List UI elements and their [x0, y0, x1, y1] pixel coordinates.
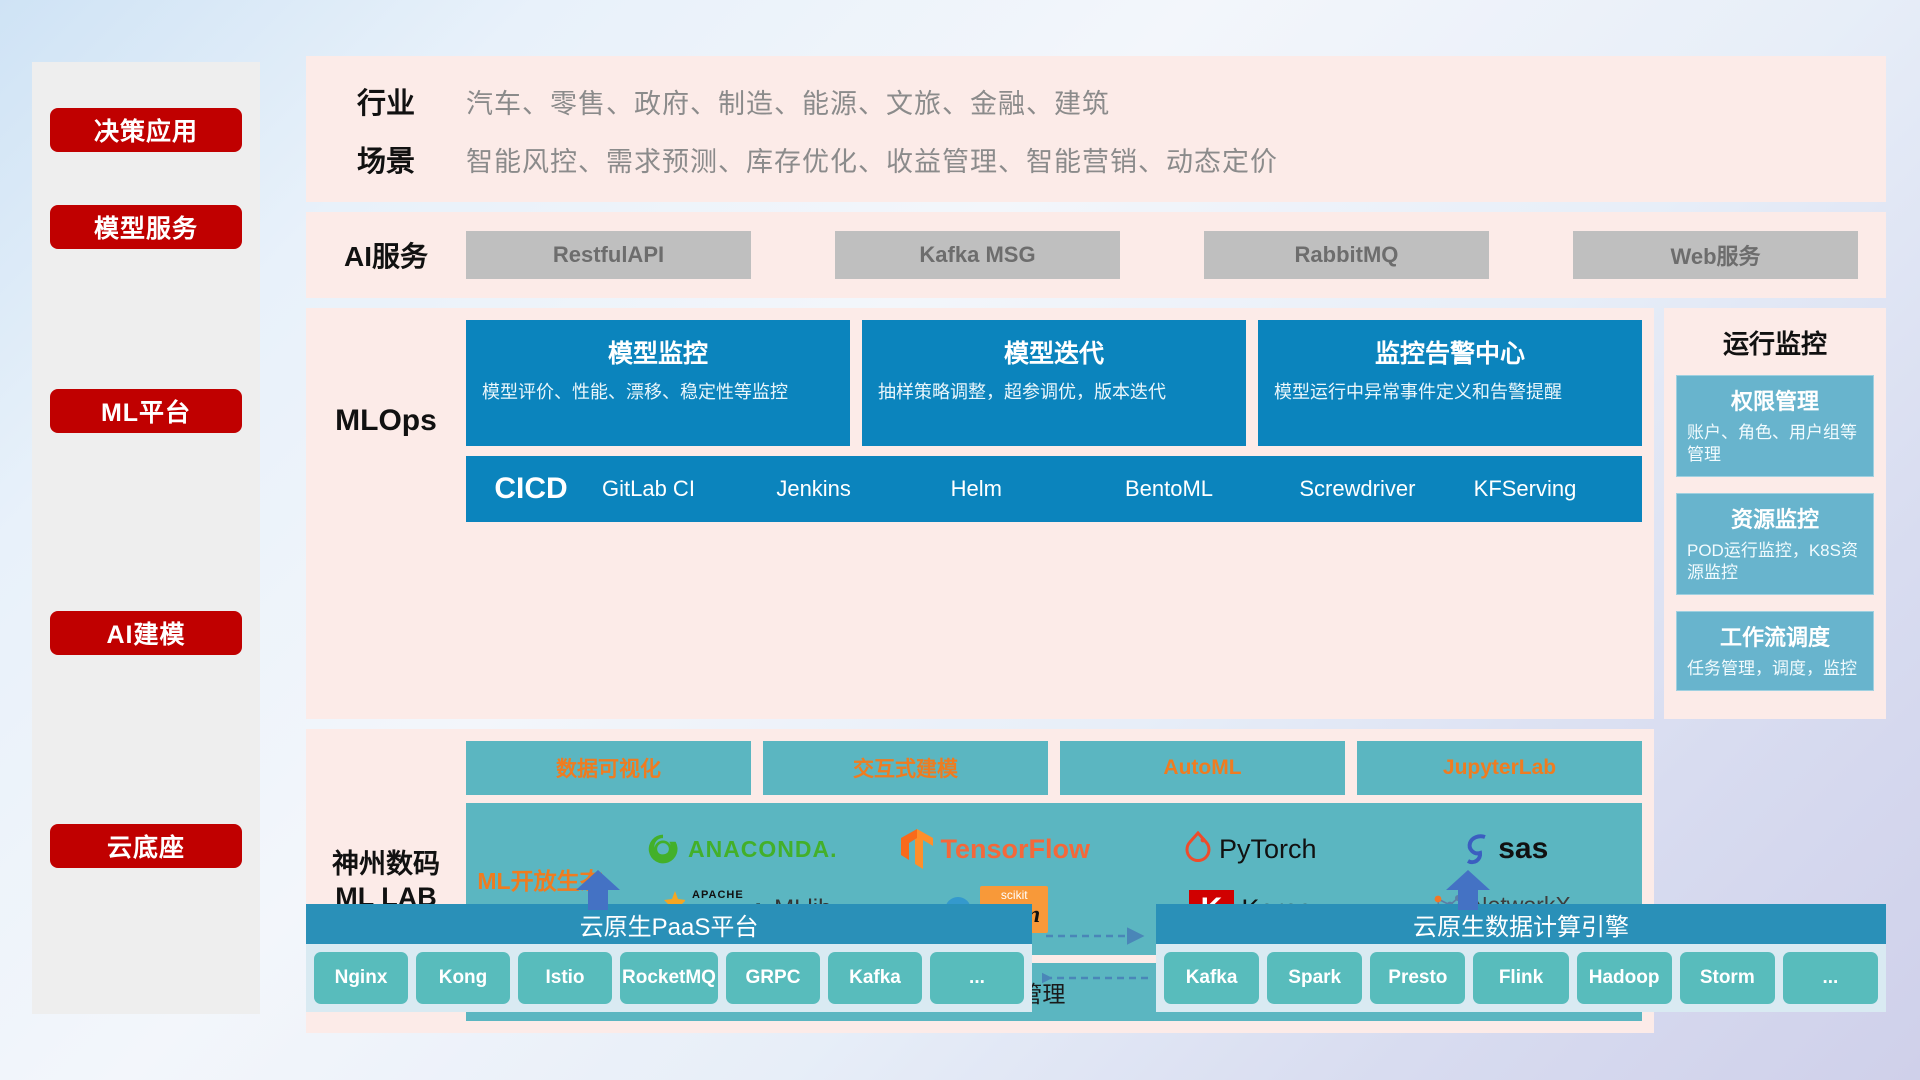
monitor-card-workflow[interactable]: 工作流调度 任务管理，调度，监控: [1676, 611, 1874, 691]
monitor-card-title: 资源监控: [1687, 502, 1863, 534]
ml-lab-tab-list: 数据可视化 交互式建模 AutoML JupyterLab: [466, 741, 1642, 795]
paas-chip-kafka[interactable]: Kafka: [828, 952, 922, 1004]
cicd-item-helm[interactable]: Helm: [945, 477, 1119, 501]
ml-lab-tab-automl[interactable]: AutoML: [1060, 741, 1345, 795]
mlops-card-title: 监控告警中心: [1274, 334, 1626, 370]
ai-service-chip-kafka-msg[interactable]: Kafka MSG: [835, 231, 1120, 279]
cicd-item-list: GitLab CI Jenkins Helm BentoML Screwdriv…: [596, 477, 1642, 501]
paas-chip-row: Nginx Kong Istio RocketMQ GRPC Kafka ...: [306, 944, 1032, 1012]
mlops-card-model-monitoring[interactable]: 模型监控 模型评价、性能、漂移、稳定性等监控: [466, 320, 850, 446]
rail-chip-model-service[interactable]: 模型服务: [50, 205, 242, 249]
monitor-card-permission[interactable]: 权限管理 账户、角色、用户组等管理: [1676, 375, 1874, 477]
mlops-card-desc: 模型评价、性能、漂移、稳定性等监控: [482, 380, 834, 404]
sas-wordmark: sas: [1498, 832, 1548, 866]
paas-group: 云原生PaaS平台 Nginx Kong Istio RocketMQ GRPC…: [306, 904, 1032, 1012]
engine-chip-flink[interactable]: Flink: [1473, 952, 1568, 1004]
monitor-card-desc: 任务管理，调度，监控: [1687, 658, 1863, 680]
paas-chip-more[interactable]: ...: [930, 952, 1024, 1004]
cicd-item-bentoml[interactable]: BentoML: [1119, 477, 1293, 501]
rail-chip-label: AI建模: [106, 615, 185, 651]
rail-chip-label: ML平台: [101, 393, 191, 429]
monitor-card-title: 权限管理: [1687, 384, 1863, 416]
paas-chip-nginx[interactable]: Nginx: [314, 952, 408, 1004]
bidirectional-connector: [1042, 926, 1152, 996]
industry-value: 汽车、零售、政府、制造、能源、文旅、金融、建筑: [466, 82, 1110, 121]
runtime-monitor-panel: 运行监控 权限管理 账户、角色、用户组等管理 资源监控 POD运行监控，K8S资…: [1664, 308, 1886, 719]
data-engine-chip-row: Kafka Spark Presto Flink Hadoop Storm ..…: [1156, 944, 1886, 1012]
pytorch-mark-icon: [1184, 831, 1212, 867]
paas-chip-istio[interactable]: Istio: [518, 952, 612, 1004]
mlops-card-desc: 抽样策略调整，超参调优，版本迭代: [878, 380, 1230, 404]
cicd-item-jenkins[interactable]: Jenkins: [770, 477, 944, 501]
rail-chip-decision-apps[interactable]: 决策应用: [50, 108, 242, 152]
ml-lab-tab-data-visualization[interactable]: 数据可视化: [466, 741, 751, 795]
anaconda-wordmark: ANACONDA.: [688, 836, 838, 863]
data-engine-header: 云原生数据计算引擎: [1156, 904, 1886, 944]
scenario-value: 智能风控、需求预测、库存优化、收益管理、智能营销、动态定价: [466, 140, 1278, 179]
mlops-card-list: 模型监控 模型评价、性能、漂移、稳定性等监控 模型迭代 抽样策略调整，超参调优，…: [466, 320, 1642, 446]
cicd-item-screwdriver[interactable]: Screwdriver: [1293, 477, 1467, 501]
industry-row: 行业 汽车、零售、政府、制造、能源、文旅、金融、建筑: [306, 72, 1886, 130]
engine-chip-storm[interactable]: Storm: [1680, 952, 1775, 1004]
ml-platform-row: MLOps 模型监控 模型评价、性能、漂移、稳定性等监控 模型迭代 抽样策略调整…: [306, 308, 1886, 719]
paas-chip-grpc[interactable]: GRPC: [726, 952, 820, 1004]
pytorch-wordmark: PyTorch: [1219, 834, 1317, 865]
decision-apps-band: 行业 汽车、零售、政府、制造、能源、文旅、金融、建筑 场景 智能风控、需求预测、…: [306, 56, 1886, 202]
monitor-card-title: 工作流调度: [1687, 620, 1863, 652]
tensorflow-mark-icon: [901, 829, 933, 869]
industry-key: 行业: [306, 80, 466, 122]
rail-chip-cloud-base[interactable]: 云底座: [50, 824, 242, 868]
mlops-card-model-iteration[interactable]: 模型迭代 抽样策略调整，超参调优，版本迭代: [862, 320, 1246, 446]
mlops-band: MLOps 模型监控 模型评价、性能、漂移、稳定性等监控 模型迭代 抽样策略调整…: [306, 308, 1654, 719]
ml-lab-tab-jupyterlab[interactable]: JupyterLab: [1357, 741, 1642, 795]
rail-chip-ai-modeling[interactable]: AI建模: [50, 611, 242, 655]
engine-chip-kafka[interactable]: Kafka: [1164, 952, 1259, 1004]
engine-chip-presto[interactable]: Presto: [1370, 952, 1465, 1004]
ai-service-chip-rabbitmq[interactable]: RabbitMQ: [1204, 231, 1489, 279]
anaconda-mark-icon: [645, 831, 681, 867]
cicd-item-kfserving[interactable]: KFServing: [1468, 477, 1642, 501]
data-engine-group: 云原生数据计算引擎 Kafka Spark Presto Flink Hadoo…: [1156, 904, 1886, 1012]
mlops-key: MLOps: [306, 320, 466, 522]
up-arrow-icon: [1446, 870, 1490, 910]
engine-chip-more[interactable]: ...: [1783, 952, 1878, 1004]
layer-rail: 决策应用 模型服务 ML平台 AI建模 云底座: [32, 62, 260, 1014]
cicd-item-gitlab-ci[interactable]: GitLab CI: [596, 477, 770, 501]
paas-chip-kong[interactable]: Kong: [416, 952, 510, 1004]
mlops-card-alert-center[interactable]: 监控告警中心 模型运行中异常事件定义和告警提醒: [1258, 320, 1642, 446]
ml-lab-tab-interactive-modeling[interactable]: 交互式建模: [763, 741, 1048, 795]
mlops-card-title: 模型监控: [482, 334, 834, 370]
rail-chip-label: 决策应用: [94, 112, 198, 148]
cicd-bar: CICD GitLab CI Jenkins Helm BentoML Scre…: [466, 456, 1642, 522]
monitor-card-resource[interactable]: 资源监控 POD运行监控，K8S资源监控: [1676, 493, 1874, 595]
sas-mark-icon: [1461, 831, 1491, 867]
cicd-title: CICD: [466, 472, 596, 506]
tensorflow-wordmark: TensorFlow: [940, 834, 1090, 865]
rail-chip-label: 云底座: [107, 828, 185, 864]
scenario-key: 场景: [306, 138, 466, 180]
mlops-card-title: 模型迭代: [878, 334, 1230, 370]
ai-service-chip-web[interactable]: Web服务: [1573, 231, 1858, 279]
engine-chip-spark[interactable]: Spark: [1267, 952, 1362, 1004]
up-arrow-icon: [576, 870, 620, 910]
paas-chip-rocketmq[interactable]: RocketMQ: [620, 952, 718, 1004]
ai-service-list: RestfulAPI Kafka MSG RabbitMQ Web服务: [466, 231, 1886, 279]
ai-service-key: AI服务: [306, 235, 466, 275]
paas-header: 云原生PaaS平台: [306, 904, 1032, 944]
rail-chip-ml-platform[interactable]: ML平台: [50, 389, 242, 433]
engine-chip-hadoop[interactable]: Hadoop: [1577, 952, 1672, 1004]
monitor-card-desc: POD运行监控，K8S资源监控: [1687, 540, 1863, 584]
ai-service-band: AI服务 RestfulAPI Kafka MSG RabbitMQ Web服务: [306, 212, 1886, 298]
rail-chip-label: 模型服务: [94, 209, 198, 245]
mlops-card-desc: 模型运行中异常事件定义和告警提醒: [1274, 380, 1626, 404]
cloud-foundation-zone: 云原生PaaS平台 Nginx Kong Istio RocketMQ GRPC…: [306, 868, 1886, 1028]
runtime-monitor-title: 运行监控: [1676, 324, 1874, 361]
monitor-card-desc: 账户、角色、用户组等管理: [1687, 422, 1863, 466]
scenario-row: 场景 智能风控、需求预测、库存优化、收益管理、智能营销、动态定价: [306, 130, 1886, 188]
ai-service-chip-restfulapi[interactable]: RestfulAPI: [466, 231, 751, 279]
